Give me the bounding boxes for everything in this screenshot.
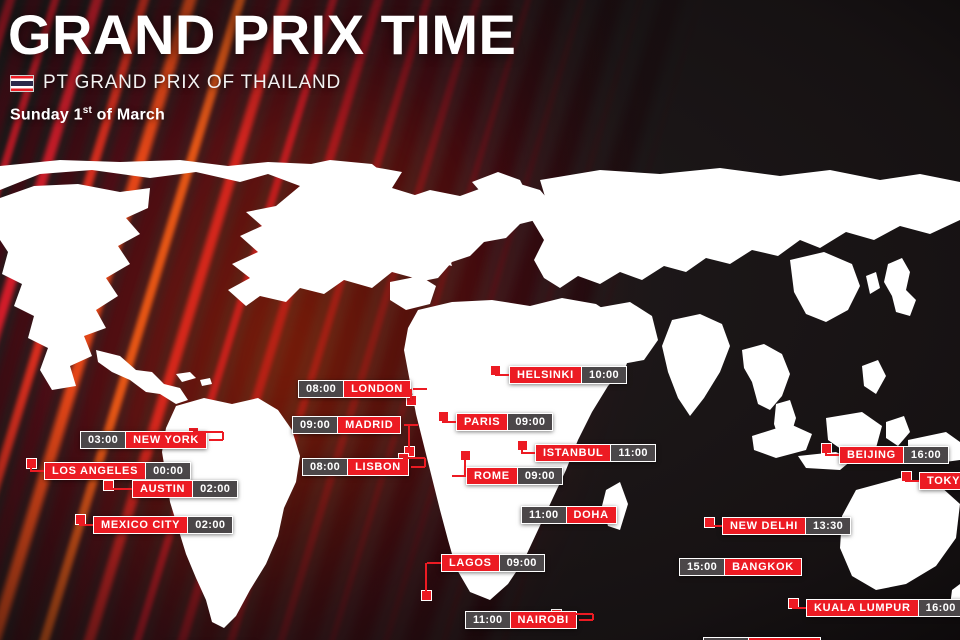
time-label: 16:00 — [904, 446, 949, 464]
leader-line — [905, 476, 907, 481]
time-label: 03:00 — [80, 431, 126, 449]
city-time-chipset[interactable]: 09:00MADRID — [292, 416, 401, 434]
city-label: HELSINKI — [509, 366, 582, 384]
city-label: BEIJING — [839, 446, 904, 464]
date-suffix: of March — [92, 106, 165, 123]
time-label: 02:00 — [188, 516, 233, 534]
date-ordinal: st — [83, 105, 92, 116]
city-time-chipset[interactable]: 08:00LONDON — [298, 380, 411, 398]
city-time-chipset[interactable]: NEW DELHI13:30 — [722, 517, 851, 535]
leader-line — [411, 466, 425, 468]
city-label: ISTANBUL — [535, 444, 611, 462]
city-label: KUALA LUMPUR — [806, 599, 919, 617]
time-label: 09:00 — [518, 467, 563, 485]
city-label: LAGOS — [441, 554, 500, 572]
event-name: PT GRAND PRIX OF THAILAND — [43, 72, 341, 94]
city-label: PARIS — [456, 413, 508, 431]
city-label: ROME — [466, 467, 518, 485]
leader-line — [408, 425, 410, 451]
city-label: NEW DELHI — [722, 517, 806, 535]
time-label: 11:00 — [611, 444, 656, 462]
time-label: 11:00 — [465, 611, 511, 629]
grand-prix-time-graphic: GRAND PRIX TIME PT GRAND PRIX OF THAILAN… — [0, 0, 960, 640]
leader-line — [792, 607, 806, 609]
city-label: LONDON — [344, 380, 411, 398]
leader-line — [521, 452, 535, 454]
city-label: LOS ANGELES — [44, 462, 146, 480]
time-label: 08:00 — [298, 380, 344, 398]
leader-line — [792, 603, 794, 608]
city-label: MADRID — [338, 416, 401, 434]
leader-line — [108, 488, 132, 490]
city-time-chipset[interactable]: LAGOS09:00 — [441, 554, 545, 572]
leader-line — [79, 524, 93, 526]
time-label: 00:00 — [146, 462, 191, 480]
city-label: AUSTIN — [132, 480, 193, 498]
time-label: 15:00 — [679, 558, 725, 576]
city-label: BANGKOK — [725, 558, 802, 576]
leader-line — [410, 389, 412, 400]
time-label: 09:00 — [508, 413, 553, 431]
thailand-flag-icon — [10, 75, 34, 92]
city-time-chipset[interactable]: HELSINKI10:00 — [509, 366, 627, 384]
leader-line — [79, 519, 81, 525]
city-time-chipset[interactable]: BEIJING16:00 — [839, 446, 949, 464]
city-time-markers: 03:00NEW YORKLOS ANGELES00:00AUSTIN02:00… — [0, 160, 960, 640]
leader-line — [579, 619, 593, 621]
city-time-chipset[interactable]: ISTANBUL11:00 — [535, 444, 656, 462]
time-label: 09:00 — [500, 554, 545, 572]
city-time-chipset[interactable]: LOS ANGELES00:00 — [44, 462, 191, 480]
leader-line — [209, 439, 223, 441]
leader-line — [494, 370, 496, 375]
leader-line — [427, 562, 441, 564]
time-label: 08:00 — [302, 458, 348, 476]
time-label: 16:00 — [919, 599, 960, 617]
city-time-chipset[interactable]: 03:00NEW YORK — [80, 431, 207, 449]
leader-line — [556, 613, 593, 615]
city-label: NEW YORK — [126, 431, 207, 449]
event-subtitle-row: PT GRAND PRIX OF THAILAND — [10, 72, 960, 94]
leader-line — [905, 480, 919, 482]
city-time-chipset[interactable]: AUSTIN02:00 — [132, 480, 238, 498]
leader-line — [495, 374, 509, 376]
leader-line — [413, 388, 427, 390]
leader-line — [193, 431, 223, 433]
date-prefix: Sunday 1 — [10, 106, 83, 123]
city-label: LISBON — [348, 458, 409, 476]
city-label: DOHA — [567, 506, 617, 524]
city-time-chipset[interactable]: ROME09:00 — [466, 467, 563, 485]
city-time-chipset[interactable]: 15:00BANGKOK — [679, 558, 802, 576]
city-label: MEXICO CITY — [93, 516, 188, 534]
leader-line — [442, 416, 444, 422]
time-label: 10:00 — [582, 366, 627, 384]
leader-line — [709, 525, 722, 527]
city-label: TOKYO — [919, 472, 960, 490]
time-label: 11:00 — [521, 506, 567, 524]
leader-line — [521, 445, 523, 453]
leader-line — [404, 424, 418, 426]
leader-line — [424, 458, 426, 467]
time-label: 09:00 — [292, 416, 338, 434]
leader-line — [442, 421, 456, 423]
leader-line — [825, 454, 839, 456]
city-time-chipset[interactable]: PARIS09:00 — [456, 413, 553, 431]
event-date: Sunday 1st of March — [10, 105, 960, 124]
leader-line — [464, 455, 466, 476]
leader-line — [825, 448, 827, 455]
time-label: 13:30 — [806, 517, 851, 535]
leader-line — [425, 563, 427, 595]
leader-line — [30, 463, 32, 471]
time-label: 02:00 — [193, 480, 238, 498]
city-time-chipset[interactable]: MEXICO CITY02:00 — [93, 516, 233, 534]
header: GRAND PRIX TIME PT GRAND PRIX OF THAILAN… — [0, 0, 960, 124]
city-time-chipset[interactable]: KUALA LUMPUR16:00 — [806, 599, 960, 617]
city-time-chipset[interactable]: TOKYO19:00 — [919, 472, 960, 490]
leader-line — [403, 457, 425, 459]
city-time-chipset[interactable]: 08:00LISBON — [302, 458, 409, 476]
leader-line — [222, 432, 224, 440]
city-time-chipset[interactable]: 11:00DOHA — [521, 506, 617, 524]
leader-line — [30, 470, 44, 472]
page-title: GRAND PRIX TIME — [6, 4, 960, 66]
